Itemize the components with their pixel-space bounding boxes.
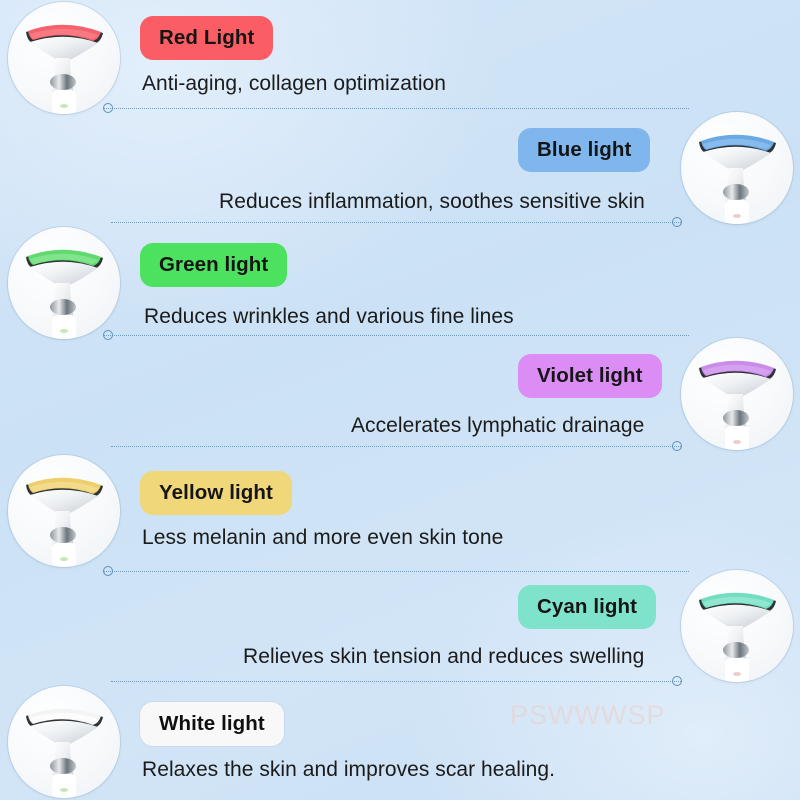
description-blue: Reduces inflammation, soothes sensitive … [219, 190, 645, 214]
connector-knob-right [672, 217, 682, 227]
badge-label-red: Red Light [159, 26, 254, 50]
description-red: Anti-aging, collagen optimization [142, 72, 446, 96]
badge-yellow: Yellow light [140, 471, 292, 515]
device-image-cyan [681, 570, 793, 682]
connector-dash [111, 681, 681, 682]
description-white: Relaxes the skin and improves scar heali… [142, 758, 555, 782]
badge-label-white: White light [159, 712, 265, 736]
connector-blue [111, 217, 681, 229]
device-illustration [8, 455, 120, 567]
connector-cyan [111, 676, 681, 688]
connector-knob-left [103, 103, 113, 113]
connector-dash [104, 571, 689, 572]
description-green: Reduces wrinkles and various fine lines [144, 305, 514, 329]
badge-label-green: Green light [159, 253, 268, 277]
connector-dash [104, 335, 689, 336]
device-illustration [681, 338, 793, 450]
device-illustration [8, 686, 120, 798]
badge-label-cyan: Cyan light [537, 595, 637, 619]
connector-knob-left [103, 566, 113, 576]
badge-violet: Violet light [518, 354, 662, 398]
badge-label-blue: Blue light [537, 138, 631, 162]
description-cyan: Relieves skin tension and reduces swelli… [243, 645, 644, 669]
connector-dash [104, 108, 689, 109]
connector-violet [111, 441, 681, 453]
device-illustration [8, 2, 120, 114]
connector-yellow [104, 566, 689, 578]
badge-cyan: Cyan light [518, 585, 656, 629]
device-illustration [681, 570, 793, 682]
badge-white: White light [140, 702, 284, 746]
infographic-canvas: PSWWWSP [0, 0, 800, 800]
device-illustration [8, 227, 120, 339]
device-image-red [8, 2, 120, 114]
connector-green [104, 330, 689, 342]
badge-blue: Blue light [518, 128, 650, 172]
watermark-text: PSWWWSP [510, 700, 666, 731]
connector-dash [111, 446, 681, 447]
device-image-blue [681, 112, 793, 224]
badge-label-violet: Violet light [537, 364, 643, 388]
device-image-yellow [8, 455, 120, 567]
connector-dash [111, 222, 681, 223]
device-illustration [681, 112, 793, 224]
badge-green: Green light [140, 243, 287, 287]
connector-knob-left [103, 330, 113, 340]
connector-red [104, 103, 689, 115]
badge-label-yellow: Yellow light [159, 481, 273, 505]
device-image-green [8, 227, 120, 339]
description-violet: Accelerates lymphatic drainage [351, 414, 644, 438]
connector-knob-right [672, 676, 682, 686]
description-yellow: Less melanin and more even skin tone [142, 526, 503, 550]
badge-red: Red Light [140, 16, 273, 60]
device-image-white [8, 686, 120, 798]
device-image-violet [681, 338, 793, 450]
connector-knob-right [672, 441, 682, 451]
